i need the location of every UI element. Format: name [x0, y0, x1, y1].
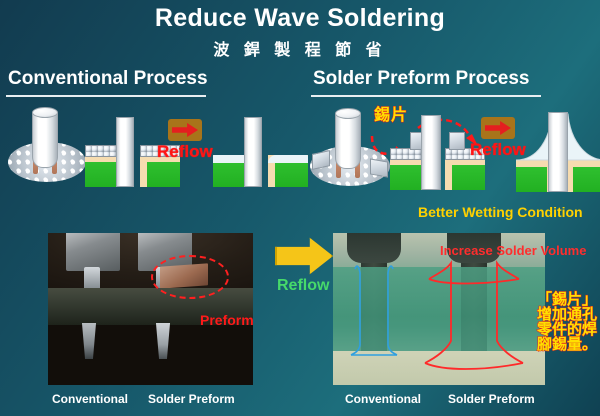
through-hole-lead-icon — [244, 117, 262, 187]
through-hole-lead-icon — [421, 115, 441, 190]
reflow-arrow-icon — [168, 119, 202, 141]
photo-left-caption-preform: Solder Preform — [148, 392, 235, 406]
through-hole-lead-icon — [116, 117, 134, 187]
better-wetting-label: Better Wetting Condition — [418, 204, 583, 220]
photo-bottom-lead — [78, 323, 100, 359]
component-lead-icon — [335, 113, 361, 169]
section-heading-solder-preform: Solder Preform Process — [313, 68, 529, 92]
pcb-soldermask-icon — [85, 162, 118, 187]
increase-solder-volume-label: Increase Solder Volume — [440, 243, 586, 258]
pcb-soldermask-icon — [452, 165, 485, 190]
slide-canvas: Reduce Wave Soldering 波 銲 製 程 節 省 Conven… — [0, 0, 600, 416]
section-heading-conventional: Conventional Process — [8, 68, 208, 92]
component-lead-icon — [32, 112, 58, 168]
pcb-soldermask-icon — [213, 162, 246, 187]
preform-highlight-ellipse — [151, 255, 229, 299]
component-lead-cap-icon — [32, 107, 58, 118]
solder-preform-cube-icon — [449, 132, 465, 150]
page-title: Reduce Wave Soldering — [0, 4, 600, 33]
reflow-label-center: Reflow — [277, 277, 329, 295]
through-hole-lead-icon — [548, 112, 568, 192]
solder-fillet-icon — [268, 155, 308, 163]
component-lead-cap-icon — [335, 108, 361, 119]
pcb-soldermask-icon — [390, 165, 423, 190]
vertical-chinese-note: 「錫片」增加通孔零件的焊腳錫量。 — [537, 292, 597, 352]
reflow-arrow-center-icon — [275, 237, 333, 275]
pcb-soldermask-icon — [147, 162, 180, 187]
reflow-arrow-icon — [481, 117, 515, 139]
pcb-soldermask-icon — [516, 167, 547, 192]
reflow-label-left: Reflow — [157, 142, 213, 162]
preform-callout-text: Preform — [200, 312, 254, 328]
pcb-soldermask-icon — [573, 167, 600, 192]
section-rule-left — [6, 95, 206, 97]
photo-right-caption-preform: Solder Preform — [448, 392, 535, 406]
photo-conventional-vs-preform — [48, 233, 253, 385]
pcb-soldermask-icon — [275, 162, 308, 187]
photo-component-body — [66, 233, 120, 271]
photo-left-caption-conventional: Conventional — [52, 392, 128, 406]
photo-right-caption-conventional: Conventional — [345, 392, 421, 406]
section-rule-right — [311, 95, 541, 97]
page-subtitle: 波 銲 製 程 節 省 — [0, 36, 600, 60]
photo-bottom-lead — [152, 323, 174, 359]
